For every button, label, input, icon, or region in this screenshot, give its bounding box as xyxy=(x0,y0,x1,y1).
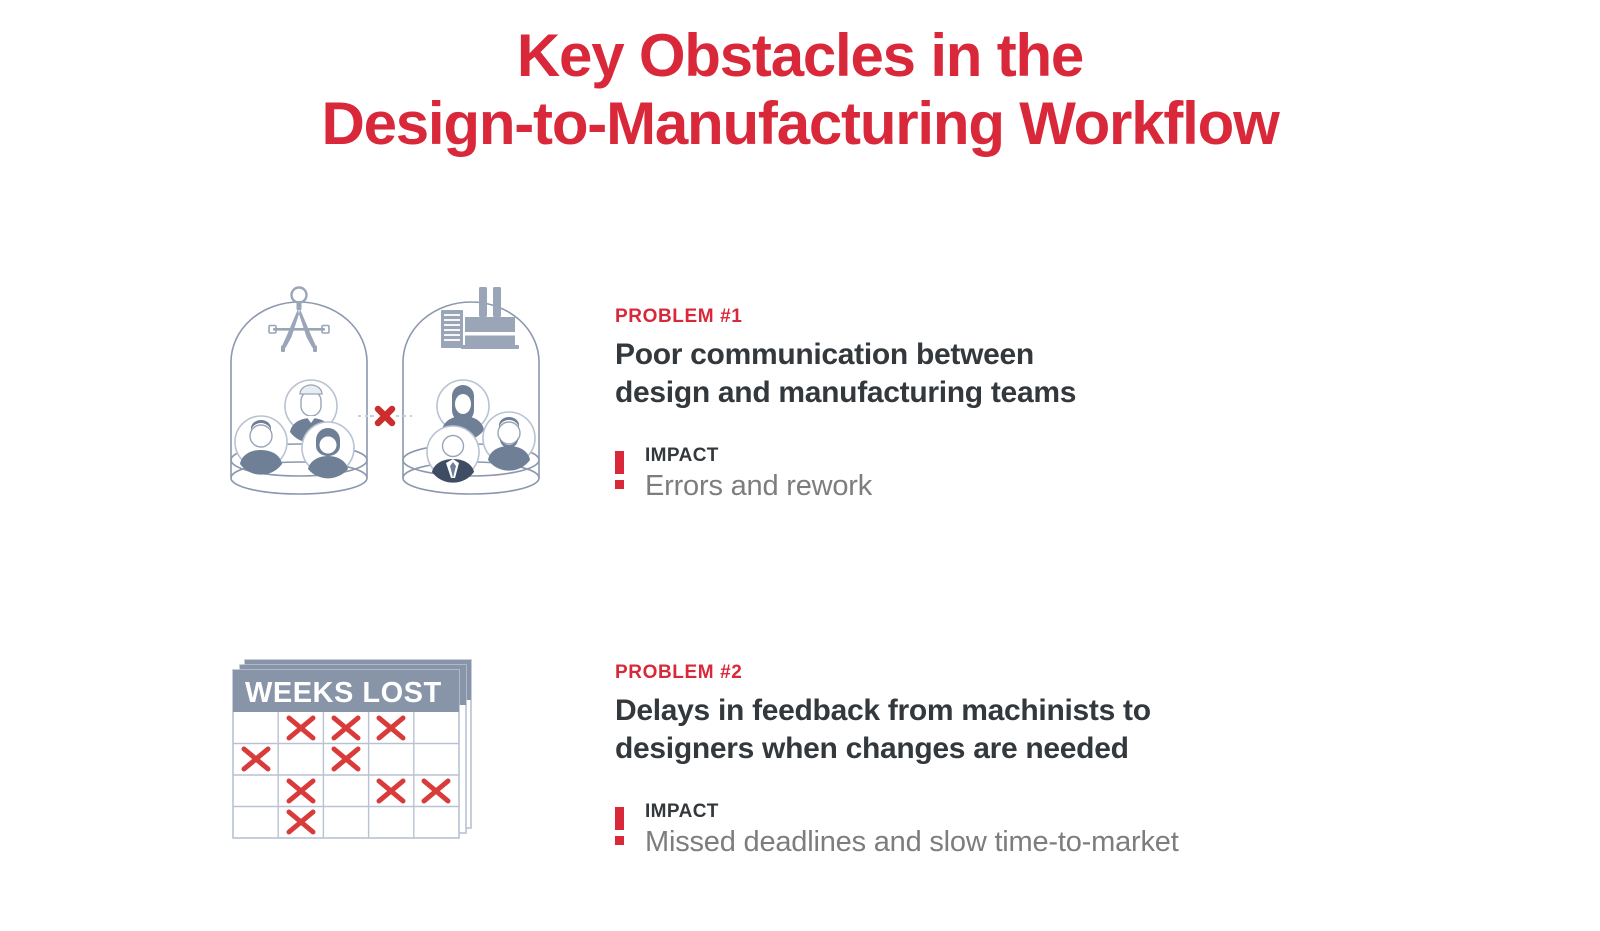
problem-2-headline-line-1: Delays in feedback from machinists to xyxy=(615,694,1151,727)
problem-block-2: WEEKS LOST xyxy=(215,638,1179,859)
exclamation-bar xyxy=(615,451,624,474)
exclamation-bar xyxy=(615,807,624,830)
broken-link-red-x xyxy=(358,409,412,423)
exclamation-dot xyxy=(615,480,624,489)
problem-2-impact-label: IMPACT xyxy=(645,802,1179,821)
infographic-page: Key Obstacles in the Design-to-Manufactu… xyxy=(0,0,1600,931)
problem-2-impact: IMPACT Missed deadlines and slow time-to… xyxy=(615,802,1179,859)
siloed-teams-svg xyxy=(215,282,555,514)
exclamation-dot xyxy=(615,836,624,845)
avatar-bearded-person xyxy=(483,412,535,471)
problem-1-headline-line-1: Poor communication between xyxy=(615,338,1034,371)
problem-2-headline: Delays in feedback from machinists to de… xyxy=(615,692,1179,768)
illustration-weeks-lost-calendar: WEEKS LOST xyxy=(215,638,615,853)
problem-2-impact-value: Missed deadlines and slow time-to-market xyxy=(645,825,1179,859)
avatar-short-hair-person xyxy=(235,416,287,475)
weeks-lost-calendar-svg: WEEKS LOST xyxy=(215,638,495,853)
problem-1-impact: IMPACT Errors and rework xyxy=(615,446,1076,503)
factory-icon xyxy=(441,287,519,349)
problem-1-kicker: PROBLEM #1 xyxy=(615,306,1076,328)
problem-2-headline-line-2: designers when changes are needed xyxy=(615,732,1129,765)
calendar-header-label: WEEKS LOST xyxy=(245,677,442,709)
problem-block-1: PROBLEM #1 Poor communication between de… xyxy=(215,282,1076,514)
calendar-front-sheet: WEEKS LOST xyxy=(233,670,459,838)
problem-1-text: PROBLEM #1 Poor communication between de… xyxy=(615,282,1076,503)
problem-1-headline-line-2: design and manufacturing teams xyxy=(615,376,1076,409)
avatar-curly-hair-person xyxy=(302,422,354,478)
problem-2-kicker: PROBLEM #2 xyxy=(615,662,1179,684)
problem-1-impact-value: Errors and rework xyxy=(645,469,872,503)
problem-2-text: PROBLEM #2 Delays in feedback from machi… xyxy=(615,638,1179,859)
exclamation-icon xyxy=(615,807,625,845)
drafting-compass-icon xyxy=(269,288,329,353)
page-title: Key Obstacles in the Design-to-Manufactu… xyxy=(0,22,1600,158)
exclamation-icon xyxy=(615,451,625,489)
problem-1-headline: Poor communication between design and ma… xyxy=(615,336,1076,412)
illustration-siloed-teams xyxy=(215,282,615,514)
problem-1-impact-label: IMPACT xyxy=(645,446,872,465)
page-title-line-1: Key Obstacles in the xyxy=(0,22,1600,90)
page-title-line-2: Design-to-Manufacturing Workflow xyxy=(0,90,1600,158)
avatar-suit-person xyxy=(427,426,479,483)
